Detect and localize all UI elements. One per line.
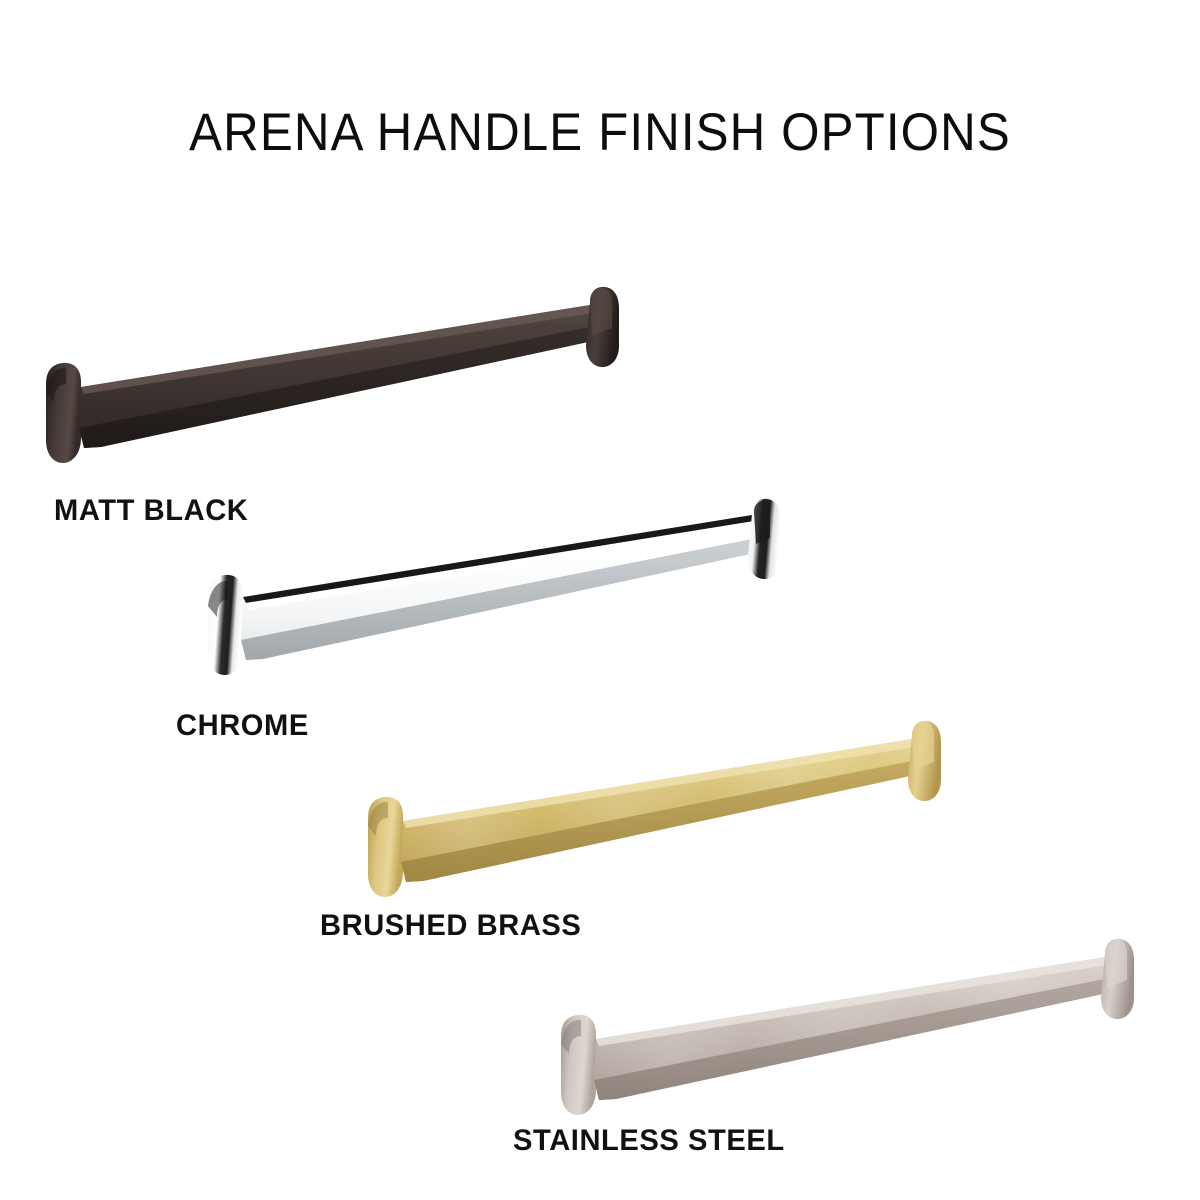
handle-product-stainless-steel[interactable] xyxy=(533,940,1153,1140)
handle-bar-icon xyxy=(180,500,800,700)
page-title: ARENA HANDLE FINISH OPTIONS xyxy=(42,102,1158,163)
handle-bar-icon xyxy=(533,940,1153,1140)
product-finish-options-image: ARENA HANDLE FINISH OPTIONS xyxy=(0,0,1200,1200)
handle-bar-icon xyxy=(18,288,638,488)
handle-product-matt-black[interactable] xyxy=(18,288,638,488)
handle-product-chrome[interactable] xyxy=(180,500,800,700)
finish-label-stainless-steel: STAINLESS STEEL xyxy=(513,1124,785,1158)
handle-bar-icon xyxy=(340,722,960,922)
handle-product-brushed-brass[interactable] xyxy=(340,722,960,922)
finish-label-chrome: CHROME xyxy=(176,709,309,743)
finish-label-brushed-brass: BRUSHED BRASS xyxy=(320,909,581,943)
